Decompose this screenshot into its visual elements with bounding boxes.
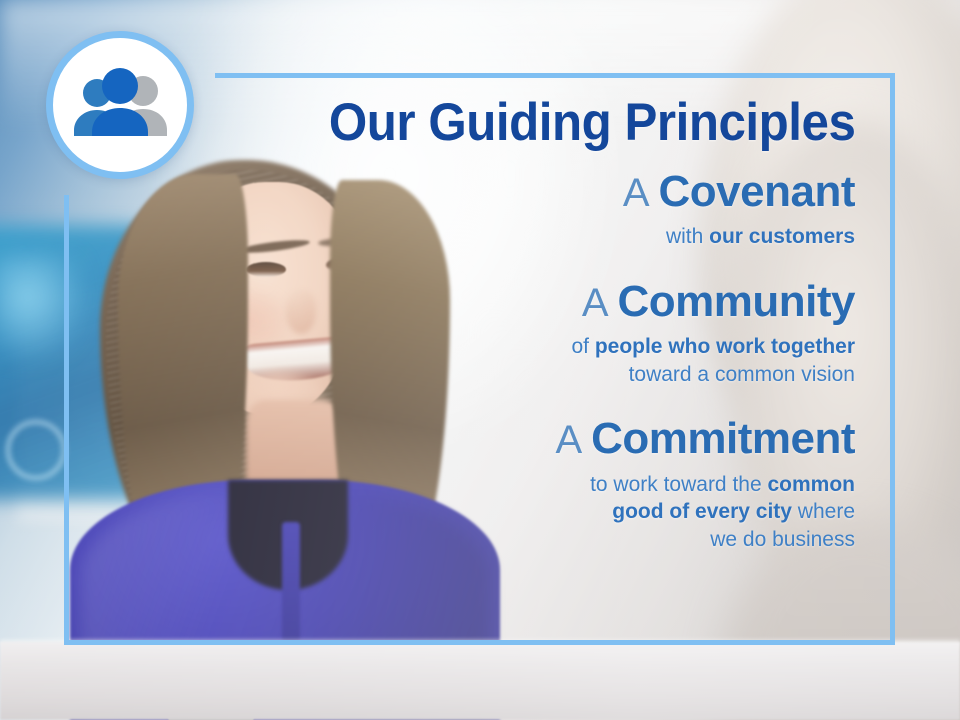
principle-subtext-line: of people who work together (64, 333, 855, 361)
principle-subtext-covenant: with our customers (64, 223, 855, 251)
principle-subtext-line: we do business (64, 526, 855, 554)
principle-article: A (556, 418, 592, 462)
principle-heading-community: A Community (64, 277, 855, 326)
subtext-plain: with (666, 225, 709, 248)
subtext-emphasis: our customers (709, 225, 855, 248)
principle-subtext-line: with our customers (64, 223, 855, 251)
subtext-plain: of (571, 335, 594, 358)
principle-heading-covenant: A Covenant (64, 167, 855, 216)
principle-article: A (623, 171, 659, 215)
principle-subtext-line: good of every city where (64, 498, 855, 526)
guiding-principles-banner: FLOW FLOW (0, 0, 960, 720)
principle-keyword: Commitment (591, 414, 855, 463)
principle-keyword: Covenant (659, 167, 855, 216)
principle-subtext-commitment: to work toward the commongood of every c… (64, 471, 855, 554)
subtext-plain: we do business (710, 528, 855, 551)
principle-covenant: A Covenantwith our customers (64, 167, 861, 251)
subtext-plain: to work toward the (590, 473, 767, 496)
principle-community: A Communityof people who work togetherto… (64, 277, 861, 389)
principle-commitment: A Commitmentto work toward the commongoo… (64, 414, 861, 553)
page-title: Our Guiding Principles (120, 73, 861, 151)
subtext-emphasis: good of every city (612, 500, 792, 523)
subtext-emphasis: common (767, 473, 855, 496)
subtext-plain: toward a common vision (629, 363, 855, 386)
principle-keyword: Community (618, 277, 856, 326)
principle-heading-commitment: A Commitment (64, 414, 855, 463)
principle-article: A (582, 281, 618, 325)
principles-list: A Covenantwith our customersA Communityo… (64, 167, 861, 554)
subtext-emphasis: people who work together (595, 335, 855, 358)
principle-subtext-community: of people who work togethertoward a comm… (64, 333, 855, 388)
blurred-brand-emblem (6, 420, 66, 480)
subtext-plain: where (792, 500, 855, 523)
principle-subtext-line: toward a common vision (64, 361, 855, 389)
desk-surface (0, 642, 960, 720)
principles-content: Our Guiding Principles A Covenantwith ou… (64, 73, 895, 645)
principle-subtext-line: to work toward the common (64, 471, 855, 499)
